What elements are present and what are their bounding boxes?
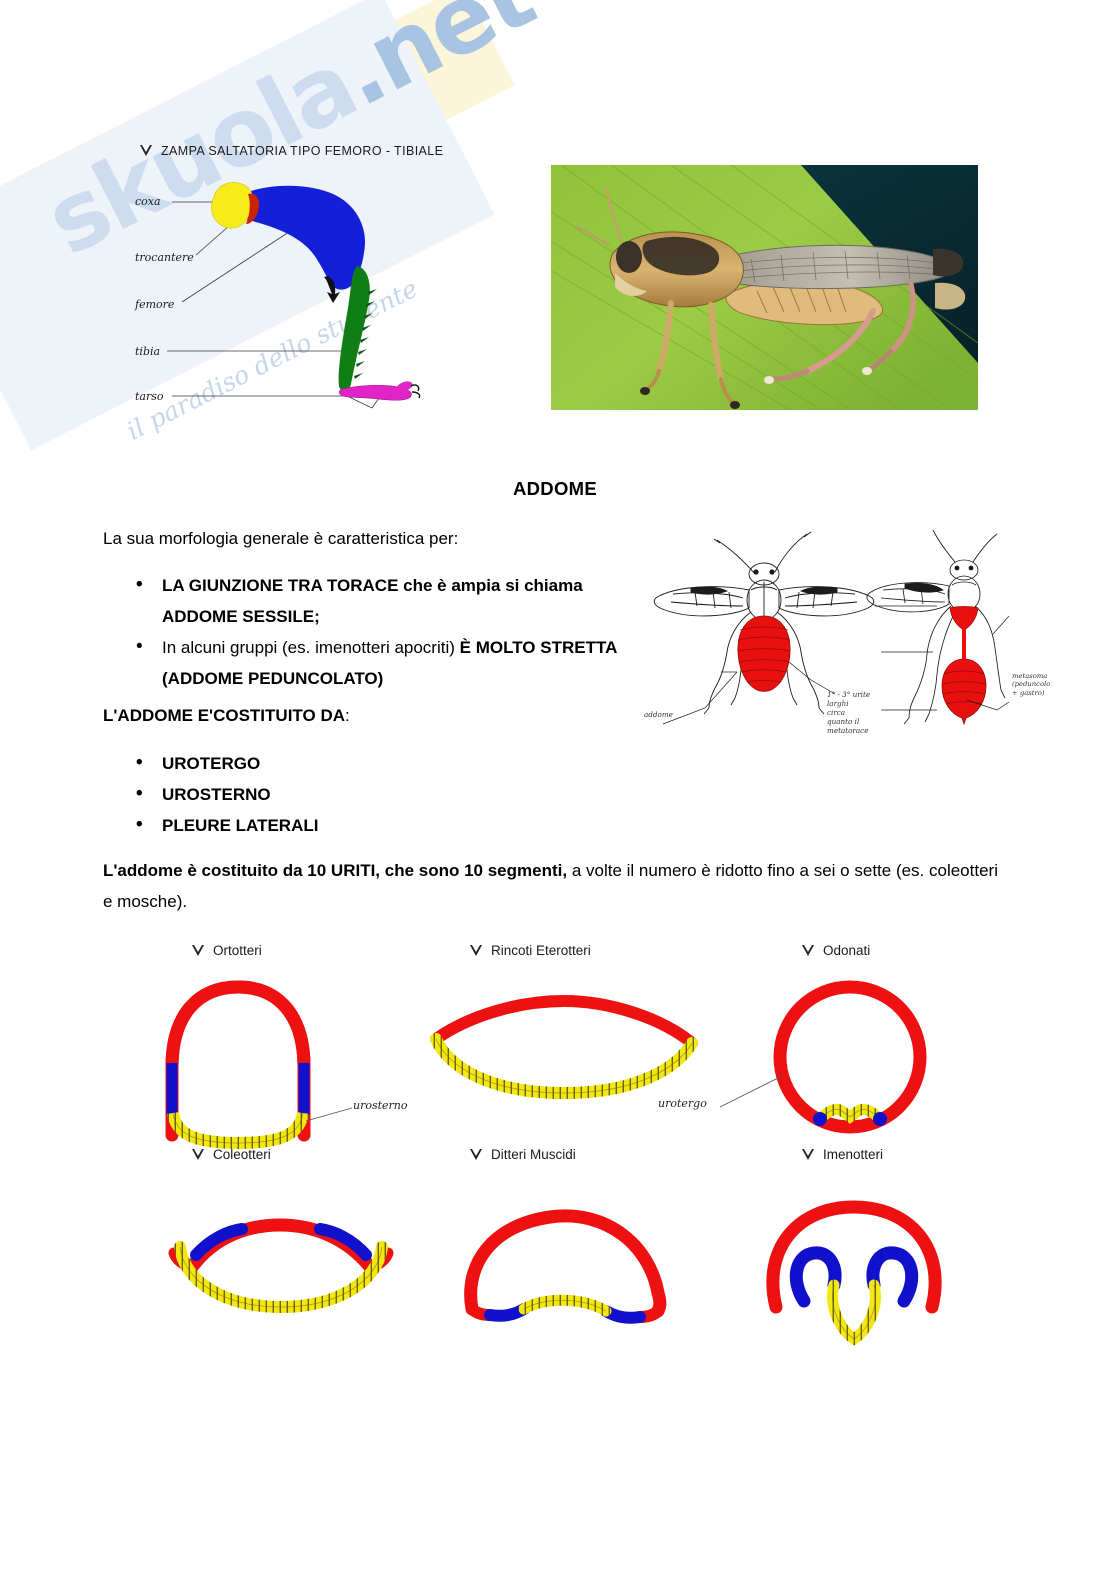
cross-section-rincoti — [436, 1001, 692, 1093]
list-item-text-normal: In alcuni gruppi (es. imenotteri apocrit… — [162, 638, 460, 657]
intro-paragraph: La sua morfologia generale è caratterist… — [103, 523, 663, 554]
coxa-shape — [212, 183, 253, 229]
wasp-label-urite-note: 1° - 3° urite larghi circa quanto il met… — [827, 690, 870, 735]
document-page: skuola.net il paradiso dello studente ZA… — [0, 0, 1116, 1579]
cross-section-ditteri — [471, 1216, 660, 1318]
leg-label-coxa: coxa — [135, 195, 161, 208]
leg-label-trocantere: trocantere — [135, 251, 194, 264]
grasshopper-photo-svg — [551, 165, 978, 410]
tarsal-claws — [411, 385, 420, 398]
leg-diagram-svg — [132, 140, 462, 425]
list-item: LA GIUNZIONE TRA TORACE che è ampia si c… — [128, 570, 618, 632]
closing-paragraph: L'addome è costituito da 10 URITI, che s… — [103, 855, 1008, 917]
leg-label-femore: femore — [135, 298, 174, 311]
section-note-urotergo: urotergo — [658, 1097, 707, 1110]
grasshopper-photo — [551, 165, 978, 410]
cross-section-imenotteri — [773, 1207, 935, 1339]
leg-label-tarso: tarso — [135, 390, 164, 403]
right-wasp-propodeum — [950, 607, 978, 631]
abdomen-cross-sections-figure: Ortotteri Rincoti Eterotteri Odonati Col… — [120, 935, 1000, 1365]
cross-section-ortotteri — [172, 987, 352, 1143]
leader-tarso-c — [372, 398, 379, 408]
wasp-abdomen-diagram: addome 1° - 3° urite larghi circa quanto… — [637, 512, 1022, 744]
cross-section-coleotteri — [174, 1225, 388, 1307]
cross-sections-svg — [120, 935, 1000, 1365]
jumping-leg-diagram: ZAMPA SALTATORIA TIPO FEMORO - TIBIALE — [132, 140, 462, 425]
wasp-label-addome: addome — [644, 710, 673, 719]
right-wasp-petiole — [962, 629, 966, 661]
list-item: UROTERGO — [128, 748, 548, 779]
cross-section-odonati — [720, 987, 920, 1127]
bullet-list-components: UROTERGO UROSTERNO PLEURE LATERALI — [128, 748, 548, 841]
leader-femore — [182, 230, 292, 302]
subheading-bold: L'ADDOME E'COSTITUITO DA — [103, 706, 345, 725]
closing-bold: L'addome è costituito da 10 URITI, che s… — [103, 861, 567, 880]
wasp-label-metasoma-note: metasoma (peduncolo + gastro) — [1012, 672, 1050, 697]
section-note-urosterno: urosterno — [353, 1099, 408, 1112]
list-item: PLEURE LATERALI — [128, 810, 548, 841]
subheading-normal: : — [345, 706, 350, 725]
subheading-paragraph: L'ADDOME E'COSTITUITO DA: — [103, 700, 663, 731]
list-item: UROSTERNO — [128, 779, 548, 810]
bullet-list-morphology: LA GIUNZIONE TRA TORACE che è ampia si c… — [128, 570, 618, 694]
list-item: In alcuni gruppi (es. imenotteri apocrit… — [128, 632, 618, 694]
watermark-brand-suffix: .net — [322, 0, 549, 128]
leg-label-tibia: tibia — [135, 345, 160, 358]
page-heading: ADDOME — [103, 478, 1007, 500]
